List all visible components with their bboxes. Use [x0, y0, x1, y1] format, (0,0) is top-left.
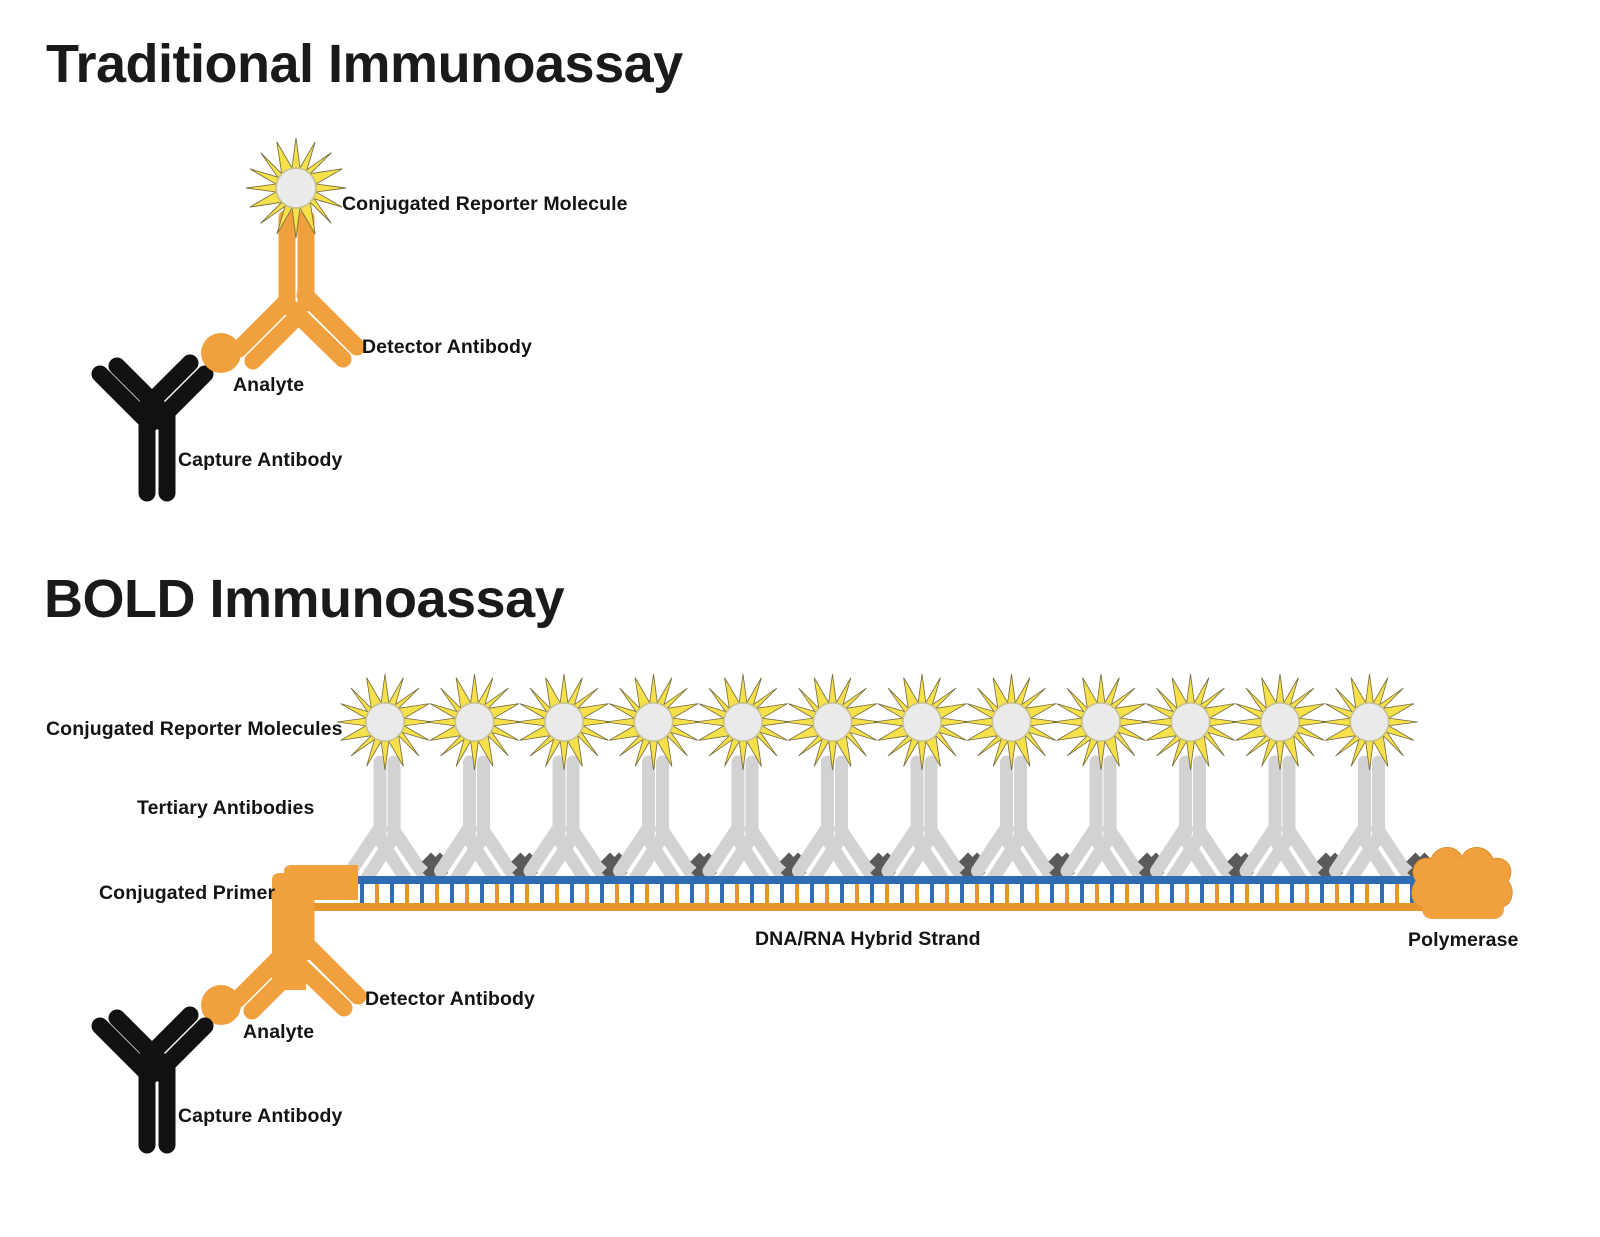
- label-conjugated-primer: Conjugated Primer: [99, 882, 275, 905]
- reporter-starburst: [695, 674, 791, 770]
- bold-assay-figure: [100, 674, 1512, 1145]
- diagram-canvas: Traditional Immunoassay BOLD Immunoassay: [0, 0, 1600, 1237]
- tertiary-antibody: [351, 762, 449, 882]
- detector-antibody-traditional: [239, 218, 357, 361]
- tertiary-antibody: [441, 762, 539, 882]
- label-polymerase: Polymerase: [1408, 929, 1519, 952]
- reporter-starburst: [606, 674, 702, 770]
- capture-antibody-traditional: [100, 363, 205, 493]
- label-detector-antibody-bold: Detector Antibody: [365, 988, 535, 1011]
- reporter-starburst: [1322, 674, 1418, 770]
- label-conjugated-reporter-molecule: Conjugated Reporter Molecule: [342, 193, 628, 216]
- reporter-starburst: [1232, 674, 1328, 770]
- tertiary-antibody: [709, 762, 807, 882]
- label-tertiary-antibodies: Tertiary Antibodies: [137, 797, 314, 820]
- tertiary-antibody-row: [351, 762, 1434, 882]
- reporter-starburst: [337, 674, 433, 770]
- polymerase: [1412, 847, 1512, 919]
- reporter-starburst: [1053, 674, 1149, 770]
- traditional-assay-figure: [100, 138, 357, 493]
- detector-antibody-bold: [238, 900, 358, 1011]
- label-detector-antibody-traditional: Detector Antibody: [362, 336, 532, 359]
- dna-rna-hybrid-strand: [290, 876, 1471, 911]
- reporter-starburst: [785, 674, 881, 770]
- label-capture-antibody-bold: Capture Antibody: [178, 1105, 342, 1128]
- tertiary-antibody: [1067, 762, 1165, 882]
- reporter-starburst-traditional: [246, 138, 346, 238]
- reporter-starburst: [516, 674, 612, 770]
- tertiary-antibody: [530, 762, 628, 882]
- tertiary-antibody: [799, 762, 897, 882]
- immunoassay-illustration: [0, 0, 1600, 1237]
- tertiary-antibody: [620, 762, 718, 882]
- reporter-starburst: [964, 674, 1060, 770]
- reporter-starburst: [1143, 674, 1239, 770]
- tertiary-antibody: [1246, 762, 1344, 882]
- reporter-starburst-row: [337, 674, 1418, 770]
- label-dna-rna-hybrid-strand: DNA/RNA Hybrid Strand: [755, 928, 981, 951]
- tertiary-antibody: [888, 762, 986, 882]
- reporter-starburst: [874, 674, 970, 770]
- label-conjugated-reporter-molecules: Conjugated Reporter Molecules: [46, 718, 343, 741]
- label-analyte-traditional: Analyte: [233, 374, 304, 397]
- tertiary-antibody: [978, 762, 1076, 882]
- label-analyte-bold: Analyte: [243, 1021, 314, 1044]
- label-capture-antibody-traditional: Capture Antibody: [178, 449, 342, 472]
- tertiary-antibody: [1157, 762, 1255, 882]
- strand-nascent-blue: [353, 876, 1471, 884]
- strand-template-orange: [290, 903, 1470, 911]
- reporter-starburst: [427, 674, 523, 770]
